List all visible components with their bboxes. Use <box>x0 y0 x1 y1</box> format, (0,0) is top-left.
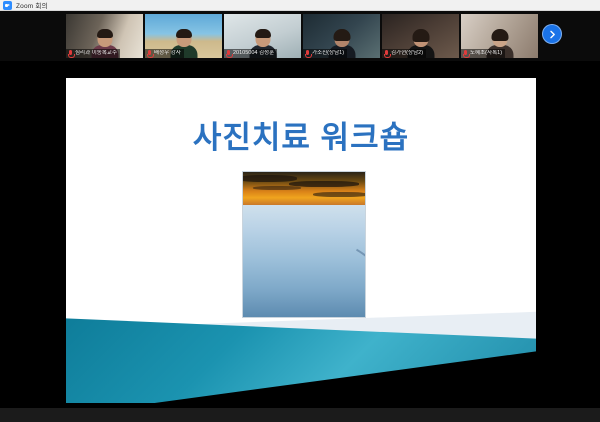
participant-name-badge: 도혜초(사록1) <box>461 49 505 58</box>
participant-thumbnail[interactable]: 가소진(상담1) <box>303 14 380 58</box>
participant-name: 도혜초(사록1) <box>470 50 502 57</box>
participant-thumbnail[interactable]: 심리과 이동복교수 <box>66 14 143 58</box>
participant-filmstrip[interactable]: 심리과 이동복교수 배정우 강사 201 <box>0 11 600 61</box>
mic-muted-icon <box>463 50 468 57</box>
photo-cloud <box>243 175 297 182</box>
participant-thumbnail[interactable]: 김가현(상담2) <box>382 14 459 58</box>
slide-photo <box>243 172 365 317</box>
photo-cloud <box>253 186 301 190</box>
mic-muted-icon <box>68 50 73 57</box>
chevron-right-icon[interactable] <box>542 24 562 44</box>
participant-thumbnail[interactable]: 배정우 강사 <box>145 14 222 58</box>
mic-muted-icon <box>147 50 152 57</box>
window-title: Zoom 회의 <box>16 0 48 10</box>
meeting-toolbar[interactable] <box>0 408 600 422</box>
slide-title: 사진치료 워크숍 <box>66 112 536 157</box>
mic-muted-icon <box>305 50 310 57</box>
window-titlebar: Zoom 회의 <box>0 0 600 11</box>
participant-name-badge: 20105004 김성훈 <box>224 49 277 58</box>
photo-cloud <box>313 192 365 197</box>
participant-name: 배정우 강사 <box>154 50 181 57</box>
presentation-slide: 사진치료 워크숍 <box>66 78 536 403</box>
zoom-logo-icon <box>3 1 12 10</box>
participant-name: 김가현(상담2) <box>391 50 423 57</box>
participant-thumbnail[interactable]: 도혜초(사록1) <box>461 14 538 58</box>
mic-muted-icon <box>384 50 389 57</box>
participant-name-badge: 배정우 강사 <box>145 49 184 58</box>
participant-name-badge: 가소진(상담1) <box>303 49 347 58</box>
participant-name: 심리과 이동복교수 <box>75 50 117 57</box>
zoom-meeting-window: Zoom 회의 심리과 이동복교수 배정우 <box>0 0 600 422</box>
shared-screen-stage: 사진치료 워크숍 <box>0 61 600 408</box>
participant-thumbnail[interactable]: 20105004 김성훈 <box>224 14 301 58</box>
participant-name: 20105004 김성훈 <box>233 50 274 57</box>
participant-name-badge: 심리과 이동복교수 <box>66 49 120 58</box>
participant-name-badge: 김가현(상담2) <box>382 49 426 58</box>
participant-name: 가소진(상담1) <box>312 50 344 57</box>
mic-muted-icon <box>226 50 231 57</box>
